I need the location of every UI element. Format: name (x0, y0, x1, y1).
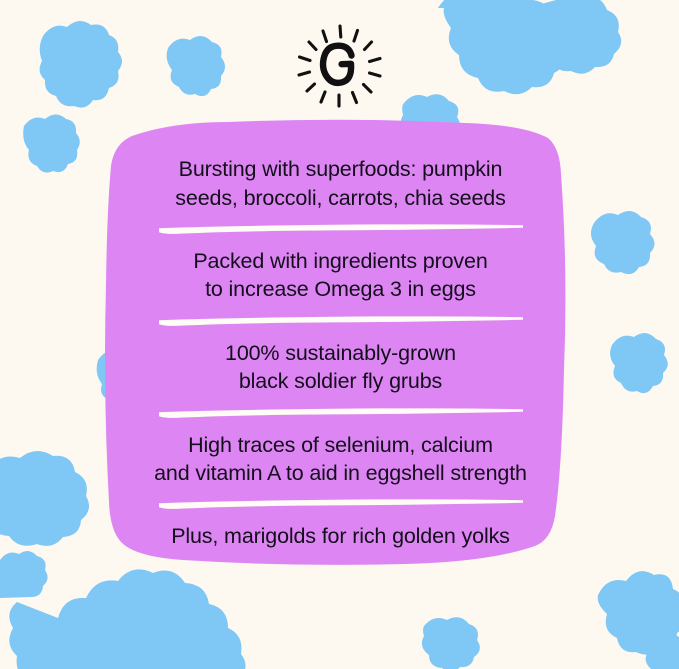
brand-logo (0, 22, 679, 108)
logo-ray (363, 85, 371, 93)
logo-ray (354, 31, 358, 42)
logo-ray (323, 31, 327, 42)
cloud-shape (0, 451, 89, 546)
claim-eggshell-strength: High traces of selenium, calcium and vit… (88, 431, 593, 488)
logo-ray (299, 57, 310, 61)
divider-brush-stroke (157, 313, 525, 331)
logo-ray (340, 26, 341, 37)
divider-brush-stroke (157, 496, 525, 514)
cloud-shape (598, 571, 679, 654)
claim-line: to increase Omega 3 in eggs (92, 275, 589, 303)
logo-ray (307, 84, 315, 91)
logo-ray (364, 42, 371, 50)
benefits-list: Bursting with superfoods: pumpkin seeds,… (88, 118, 593, 584)
sun-burst-g-logo-icon (294, 22, 386, 108)
cloud-shape (9, 569, 245, 669)
cloud-shape (610, 333, 668, 393)
claim-line: High traces of selenium, calcium (92, 431, 589, 459)
cloud-shape (23, 115, 80, 173)
logo-ray (309, 42, 316, 50)
product-feature-poster: Bursting with superfoods: pumpkin seeds,… (0, 0, 679, 669)
cloud-shape (0, 551, 48, 598)
cloud-shape (591, 211, 655, 274)
cloud-shape (422, 617, 480, 669)
cloud-shape (646, 635, 679, 669)
claim-line: 100% sustainably-grown (92, 339, 589, 367)
divider-brush-stroke (157, 405, 525, 423)
claim-line: and vitamin A to aid in eggshell strengt… (92, 459, 589, 487)
claim-omega-3: Packed with ingredients proven to increa… (88, 247, 593, 304)
logo-ray (352, 93, 356, 103)
logo-ray (321, 92, 325, 102)
divider-brush-stroke (157, 221, 525, 239)
logo-ray (369, 59, 380, 62)
claim-line: seeds, broccoli, carrots, chia seeds (92, 184, 589, 212)
claim-line: Packed with ingredients proven (92, 247, 589, 275)
benefits-card: Bursting with superfoods: pumpkin seeds,… (88, 118, 593, 584)
logo-ray (369, 73, 380, 76)
claim-line: Plus, marigolds for rich golden yolks (92, 522, 589, 550)
claim-superfoods: Bursting with superfoods: pumpkin seeds,… (88, 155, 593, 212)
logo-letter-g (323, 46, 351, 83)
logo-ray (299, 72, 310, 75)
claim-line: black soldier fly grubs (92, 367, 589, 395)
claim-sustainable-grubs: 100% sustainably-grown black soldier fly… (88, 339, 593, 396)
claim-marigolds: Plus, marigolds for rich golden yolks (88, 522, 593, 550)
claim-line: Bursting with superfoods: pumpkin (92, 155, 589, 183)
